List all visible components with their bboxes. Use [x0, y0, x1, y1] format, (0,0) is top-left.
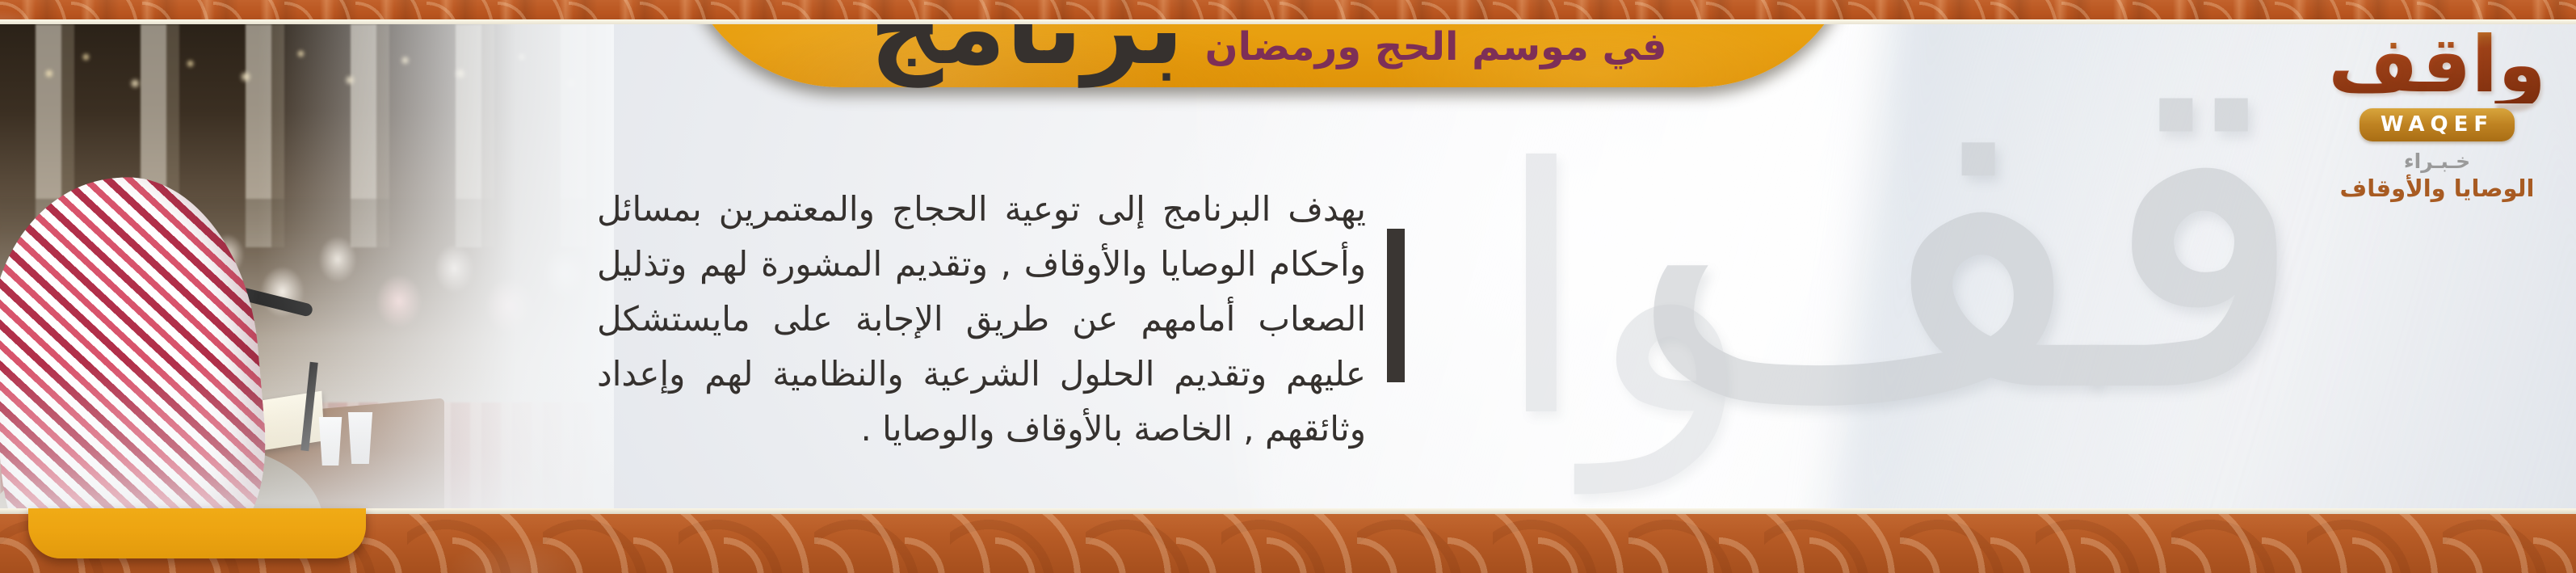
- mosque-lecture-photo: [0, 24, 614, 509]
- bottom-decorative-strip: [0, 508, 2576, 573]
- program-description-block: يهدف البرنامج إلى توعية الحجاج والمعتمري…: [597, 182, 1405, 457]
- title-subtitle-line2: في موسم الحج ورمضان: [1205, 23, 1667, 71]
- top-decorative-strip: [0, 0, 2576, 24]
- top-strip-pattern: [0, 0, 2576, 24]
- bottom-strip-pattern: [0, 508, 2576, 573]
- waqef-logo-tagline-wills-endowments: الوصايا والأوقاف: [2340, 175, 2535, 202]
- waqef-logo-tagline-experts: خـبـراء: [2404, 150, 2470, 173]
- waqef-logo-arabic-mark: واقف: [2328, 24, 2546, 103]
- photo-bottom-fade: [0, 24, 614, 509]
- waqef-logo-latin-badge: WAQEF: [2360, 108, 2515, 141]
- waqef-logo: واقف WAQEF خـبـراء الوصايا والأوقاف: [2316, 24, 2558, 202]
- accent-bar: [1387, 229, 1405, 382]
- bottom-yellow-tab: [28, 508, 366, 558]
- waqef-program-banner: قف وا التوعية الوقفية في موسم: [0, 0, 2576, 573]
- program-description-text: يهدف البرنامج إلى توعية الحجاج والمعتمري…: [597, 182, 1366, 457]
